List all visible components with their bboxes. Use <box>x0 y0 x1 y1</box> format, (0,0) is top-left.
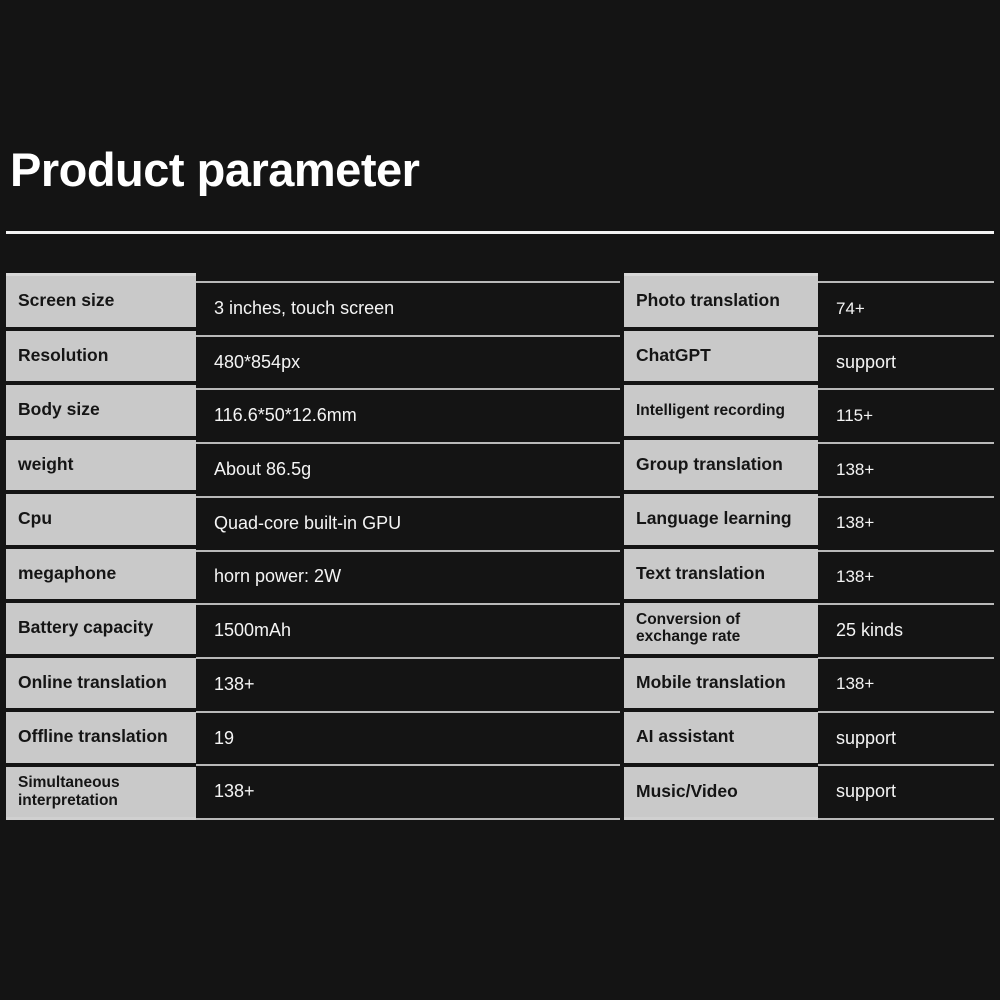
table-row: Resolution <box>6 329 196 384</box>
table-cell: Quad-core built-in GPU <box>196 496 620 550</box>
spec-label: megaphone <box>18 564 116 584</box>
spec-value: 116.6*50*12.6mm <box>214 406 357 426</box>
spec-value: 138+ <box>214 782 255 802</box>
spec-table-right: Photo translation ChatGPT Intelligent re… <box>624 273 994 820</box>
spec-label: Cpu <box>18 509 52 529</box>
spec-value: About 86.5g <box>214 460 311 480</box>
spec-label: ChatGPT <box>636 346 711 366</box>
spec-label: Language learning <box>636 509 792 529</box>
spec-value: Quad-core built-in GPU <box>214 514 401 534</box>
table-cell: 138+ <box>818 496 994 550</box>
spec-value: 3 inches, touch screen <box>214 299 394 319</box>
spec-value: 115+ <box>836 407 873 426</box>
table-row: Conversion of exchange rate <box>624 601 818 656</box>
table-cell: About 86.5g <box>196 442 620 496</box>
table-row: Photo translation <box>624 273 818 329</box>
spec-label: Group translation <box>636 455 783 475</box>
spec-value: 480*854px <box>214 353 300 373</box>
left-label-column: Screen size Resolution Body size weight … <box>6 273 196 820</box>
spec-label: Photo translation <box>636 291 780 311</box>
spec-label: Music/Video <box>636 782 738 802</box>
table-row: Text translation <box>624 547 818 602</box>
left-value-column: 3 inches, touch screen 480*854px 116.6*5… <box>196 273 620 820</box>
spec-value: support <box>836 353 896 373</box>
table-cell: 25 kinds <box>818 603 994 657</box>
table-row: Music/Video <box>624 765 818 821</box>
table-row: Online translation <box>6 656 196 711</box>
spec-label: Offline translation <box>18 727 168 747</box>
spec-tables: Screen size Resolution Body size weight … <box>6 273 994 820</box>
table-cell: 138+ <box>196 764 620 820</box>
table-row: Language learning <box>624 492 818 547</box>
spec-label: weight <box>18 455 73 475</box>
table-cell: 138+ <box>818 550 994 604</box>
table-cell: support <box>818 764 994 820</box>
table-row: Simultaneous interpretation <box>6 765 196 821</box>
spec-label: Screen size <box>18 291 114 311</box>
spec-label: Text translation <box>636 564 765 584</box>
spec-value: support <box>836 782 896 802</box>
spec-label: Mobile translation <box>636 673 786 693</box>
table-cell: 115+ <box>818 388 994 442</box>
spec-table-left: Screen size Resolution Body size weight … <box>6 273 620 820</box>
spec-value: horn power: 2W <box>214 567 341 587</box>
spec-value: 138+ <box>214 675 255 695</box>
right-label-column: Photo translation ChatGPT Intelligent re… <box>624 273 818 820</box>
table-row: AI assistant <box>624 710 818 765</box>
spec-label: Body size <box>18 400 100 420</box>
table-cell: support <box>818 335 994 389</box>
table-cell: 74+ <box>818 281 994 335</box>
table-row: Screen size <box>6 273 196 329</box>
table-row: weight <box>6 438 196 493</box>
page-title: Product parameter <box>10 145 419 194</box>
spec-value: 74+ <box>836 300 865 319</box>
table-row: Mobile translation <box>624 656 818 711</box>
spec-label: Online translation <box>18 673 167 693</box>
spec-label: Conversion of exchange rate <box>636 611 812 646</box>
right-value-column: 74+ support 115+ 138+ 138+ 138+ 25 kinds… <box>818 273 994 820</box>
spec-value: 19 <box>214 729 234 749</box>
table-row: Offline translation <box>6 710 196 765</box>
spec-value: 138+ <box>836 675 874 694</box>
spec-value: 138+ <box>836 568 874 587</box>
table-row: Intelligent recording <box>624 383 818 438</box>
title-divider <box>6 231 994 234</box>
spec-value: 25 kinds <box>836 621 903 641</box>
table-row: Battery capacity <box>6 601 196 656</box>
table-row: Group translation <box>624 438 818 493</box>
product-parameter-page: Product parameter Screen size Resolution… <box>0 0 1000 1000</box>
table-cell: 1500mAh <box>196 603 620 657</box>
spec-label: AI assistant <box>636 727 734 747</box>
table-row: ChatGPT <box>624 329 818 384</box>
table-row: Body size <box>6 383 196 438</box>
spec-value: 138+ <box>836 461 874 480</box>
spec-label: Intelligent recording <box>636 402 785 419</box>
table-cell: support <box>818 711 994 765</box>
table-cell: 138+ <box>196 657 620 711</box>
table-cell: horn power: 2W <box>196 550 620 604</box>
spec-label: Resolution <box>18 346 108 366</box>
table-cell: 116.6*50*12.6mm <box>196 388 620 442</box>
spec-value: 1500mAh <box>214 621 291 641</box>
table-row: megaphone <box>6 547 196 602</box>
table-cell: 138+ <box>818 442 994 496</box>
table-cell: 138+ <box>818 657 994 711</box>
table-row: Cpu <box>6 492 196 547</box>
spec-label: Simultaneous interpretation <box>18 774 190 809</box>
spec-value: support <box>836 729 896 749</box>
table-cell: 3 inches, touch screen <box>196 281 620 335</box>
spec-label: Battery capacity <box>18 618 153 638</box>
table-cell: 480*854px <box>196 335 620 389</box>
table-cell: 19 <box>196 711 620 765</box>
spec-value: 138+ <box>836 514 874 533</box>
